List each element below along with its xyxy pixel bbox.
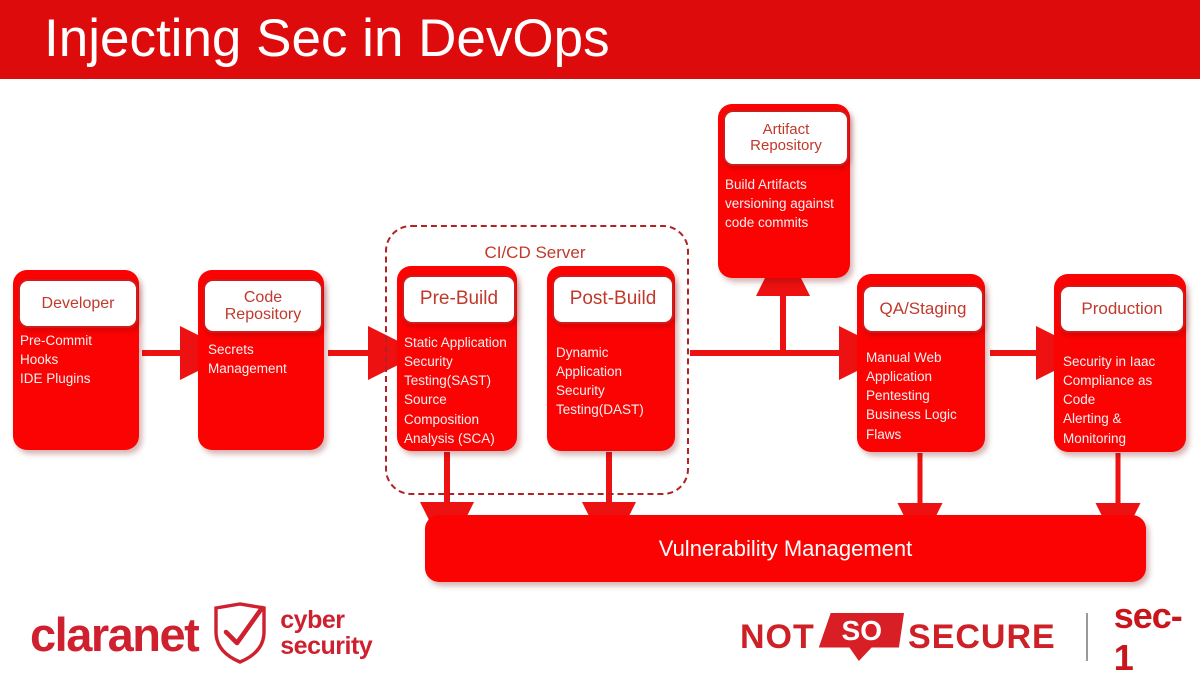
- notsosecure-word-not: NOT: [740, 618, 815, 657]
- stage-title-qa-staging: QA/Staging: [862, 285, 984, 333]
- stage-title-production: Production: [1059, 285, 1185, 333]
- claranet-wordmark: claranet: [30, 607, 198, 662]
- vulnerability-management-label: Vulnerability Management: [659, 536, 913, 562]
- stage-body-production: Security in Iaac Compliance as Code Aler…: [1063, 352, 1189, 448]
- header-bar: Injecting Sec in DevOps: [0, 0, 1200, 79]
- claranet-subtitle-line1: cyber: [280, 608, 372, 634]
- claranet-subtitle: cyber security: [280, 608, 372, 660]
- claranet-logo: claranet cyber security: [30, 603, 372, 665]
- logo-divider: [1086, 613, 1088, 661]
- so-badge-text: SO: [819, 615, 905, 647]
- sec1-wordmark: sec-1: [1114, 595, 1200, 679]
- stage-title-post-build: Post-Build: [552, 275, 674, 324]
- stage-title-artifact-repository: Artifact Repository: [723, 110, 849, 166]
- notsosecure-sec1-logo: NOT SO SECURE sec-1: [740, 612, 1200, 662]
- stage-title-code-repository: Code Repository: [203, 279, 323, 333]
- slide-canvas: Injecting Sec in DevOps: [0, 0, 1200, 674]
- shield-check-icon: [212, 602, 268, 669]
- stage-body-developer: Pre-Commit Hooks IDE Plugins: [20, 331, 140, 388]
- stage-body-pre-build: Static Application Security Testing(SAST…: [404, 333, 522, 448]
- stage-body-artifact-repository: Build Artifacts versioning against code …: [725, 175, 851, 232]
- stage-body-code-repository: Secrets Management: [208, 340, 328, 378]
- vulnerability-management-bar[interactable]: Vulnerability Management: [425, 515, 1146, 582]
- stage-title-developer: Developer: [18, 279, 138, 328]
- claranet-subtitle-line2: security: [280, 634, 372, 660]
- stage-body-post-build: Dynamic Application Security Testing(DAS…: [556, 343, 676, 420]
- stage-title-pre-build: Pre-Build: [402, 275, 516, 324]
- stage-body-qa-staging: Manual Web Application Pentesting Busine…: [866, 348, 988, 444]
- notsosecure-so-badge: SO: [819, 613, 904, 661]
- notsosecure-word-secure: SECURE: [908, 618, 1056, 657]
- page-title: Injecting Sec in DevOps: [44, 7, 610, 71]
- cicd-server-label: CI/CD Server: [385, 243, 685, 263]
